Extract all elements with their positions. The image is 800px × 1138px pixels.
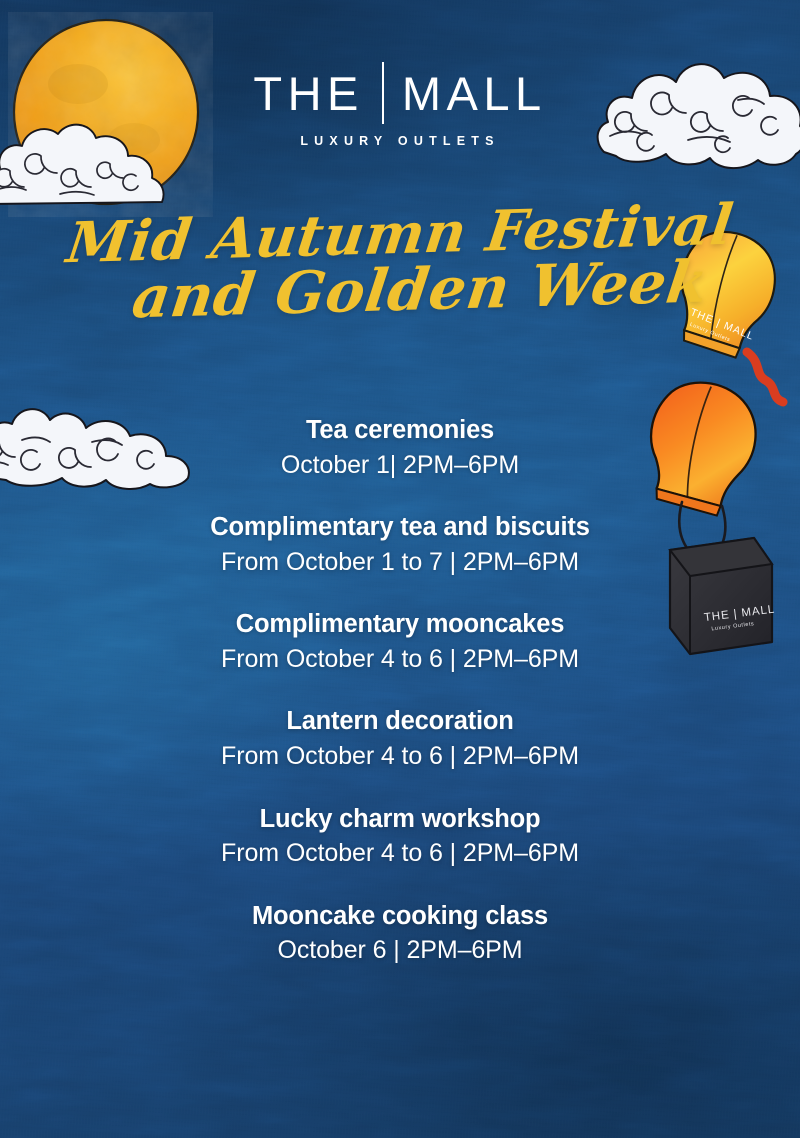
event-schedule: October 1| 2PM–6PM: [0, 448, 800, 484]
poster-canvas: THE | MALL Luxury Outlets: [0, 0, 800, 1138]
event-list: Tea ceremonies October 1| 2PM–6PM Compli…: [0, 414, 800, 969]
event-schedule: From October 1 to 7 | 2PM–6PM: [0, 545, 800, 581]
brand-tagline: LUXURY OUTLETS: [0, 134, 800, 148]
brand-word-mall: MALL: [402, 70, 547, 117]
event-name: Mooncake cooking class: [0, 900, 800, 934]
brand-logo: THE MALL LUXURY OUTLETS: [0, 66, 800, 148]
brand-logo-row: THE MALL: [0, 66, 800, 120]
svg-text:Luxury Outlets: Luxury Outlets: [689, 322, 731, 344]
event-item: Tea ceremonies October 1| 2PM–6PM: [0, 414, 800, 483]
event-name: Lantern decoration: [0, 705, 800, 739]
event-name: Complimentary mooncakes: [0, 608, 800, 642]
event-name: Tea ceremonies: [0, 414, 800, 448]
event-schedule: From October 4 to 6 | 2PM–6PM: [0, 836, 800, 872]
event-name: Lucky charm workshop: [0, 803, 800, 837]
brand-divider-bar: [382, 62, 384, 124]
event-item: Lantern decoration From October 4 to 6 |…: [0, 705, 800, 774]
event-name: Complimentary tea and biscuits: [0, 511, 800, 545]
event-item: Complimentary tea and biscuits From Octo…: [0, 511, 800, 580]
event-item: Lucky charm workshop From October 4 to 6…: [0, 803, 800, 872]
event-item: Mooncake cooking class October 6 | 2PM–6…: [0, 900, 800, 969]
festival-title: Mid Autumn Festival and Golden Week: [0, 208, 800, 318]
event-schedule: October 6 | 2PM–6PM: [0, 933, 800, 969]
event-schedule: From October 4 to 6 | 2PM–6PM: [0, 739, 800, 775]
event-item: Complimentary mooncakes From October 4 t…: [0, 608, 800, 677]
event-schedule: From October 4 to 6 | 2PM–6PM: [0, 642, 800, 678]
brand-word-the: THE: [253, 70, 364, 117]
